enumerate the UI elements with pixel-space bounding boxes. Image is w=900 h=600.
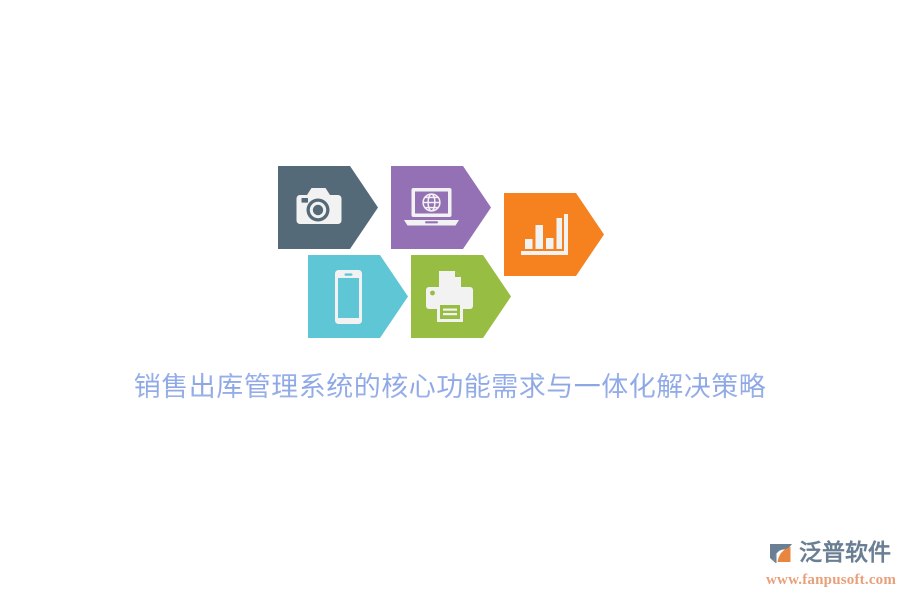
fanpu-logo-mark-icon — [766, 538, 796, 568]
chevron-item-phone — [308, 255, 408, 338]
chevron-icon-cluster — [278, 166, 608, 341]
watermark-logo: 泛普软件 www.fanpusoft.com — [766, 536, 890, 592]
watermark-brand-name: 泛普软件 — [799, 538, 891, 568]
chevron-item-printer — [411, 255, 511, 338]
page-canvas: 销售出库管理系统的核心功能需求与一体化解决策略 泛普软件 www.fanpuso… — [0, 0, 900, 600]
page-title: 销售出库管理系统的核心功能需求与一体化解决策略 — [0, 370, 900, 406]
chevron-item-camera — [278, 166, 378, 249]
watermark-url: www.fanpusoft.com — [766, 571, 890, 589]
chevron-shape-chart — [504, 193, 604, 276]
chevron-item-laptop — [391, 166, 491, 249]
smartphone-icon — [335, 270, 362, 324]
chevron-item-chart — [504, 193, 604, 276]
